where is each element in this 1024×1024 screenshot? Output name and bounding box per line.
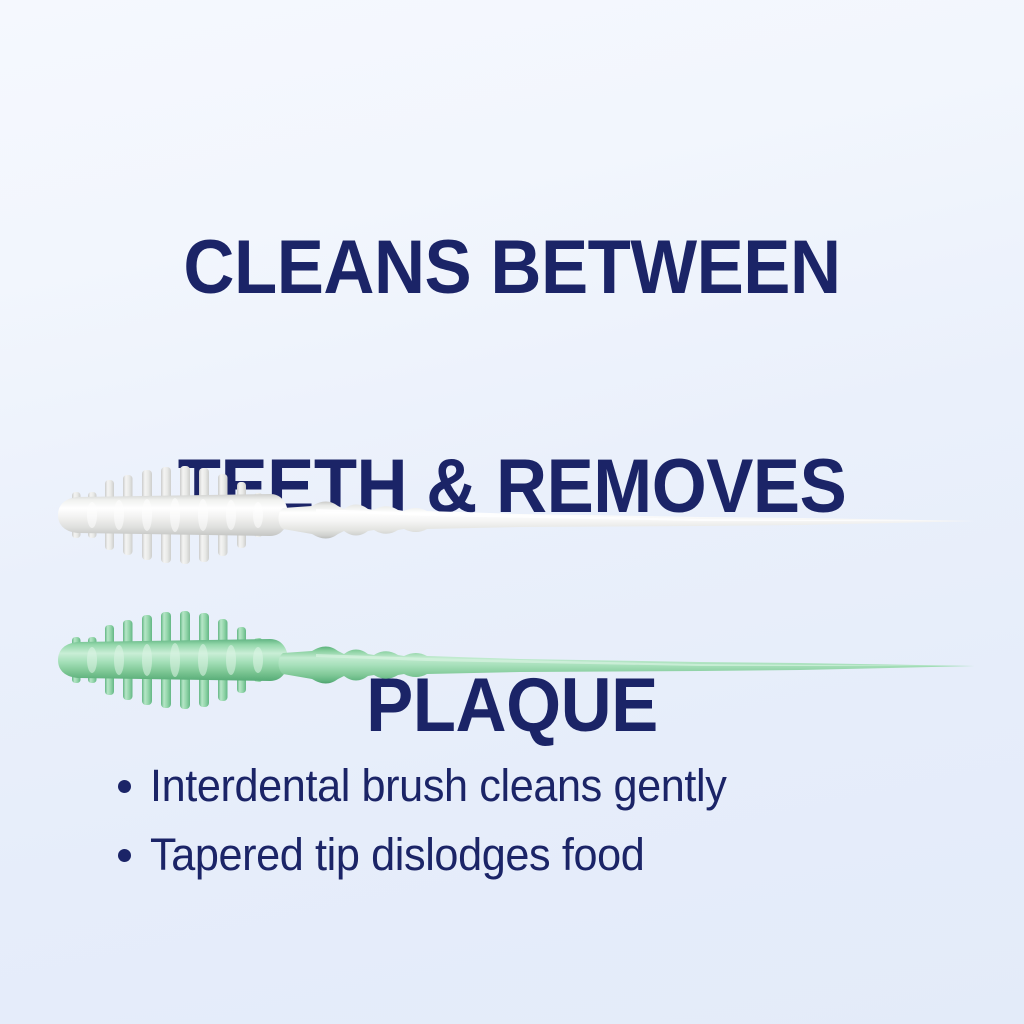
bullet-dot-icon xyxy=(118,849,131,862)
headline-line-1: CLEANS BETWEEN xyxy=(36,232,988,305)
white-pick-artwork xyxy=(58,466,975,564)
green-shaft xyxy=(279,647,976,684)
bullet-text: Interdental brush cleans gently xyxy=(150,762,726,809)
feature-bullet-list: Interdental brush cleans gently Tapered … xyxy=(118,762,998,901)
green-interdental-pick xyxy=(0,575,1024,745)
white-shaft xyxy=(279,502,976,539)
list-item: Tapered tip dislodges food xyxy=(118,831,998,878)
list-item: Interdental brush cleans gently xyxy=(118,762,998,809)
bullet-text: Tapered tip dislodges food xyxy=(150,831,644,878)
bullet-dot-icon xyxy=(118,780,131,793)
green-pick-artwork xyxy=(58,611,975,709)
product-feature-graphic: CLEANS BETWEEN TEETH & REMOVES PLAQUE xyxy=(0,0,1024,1024)
